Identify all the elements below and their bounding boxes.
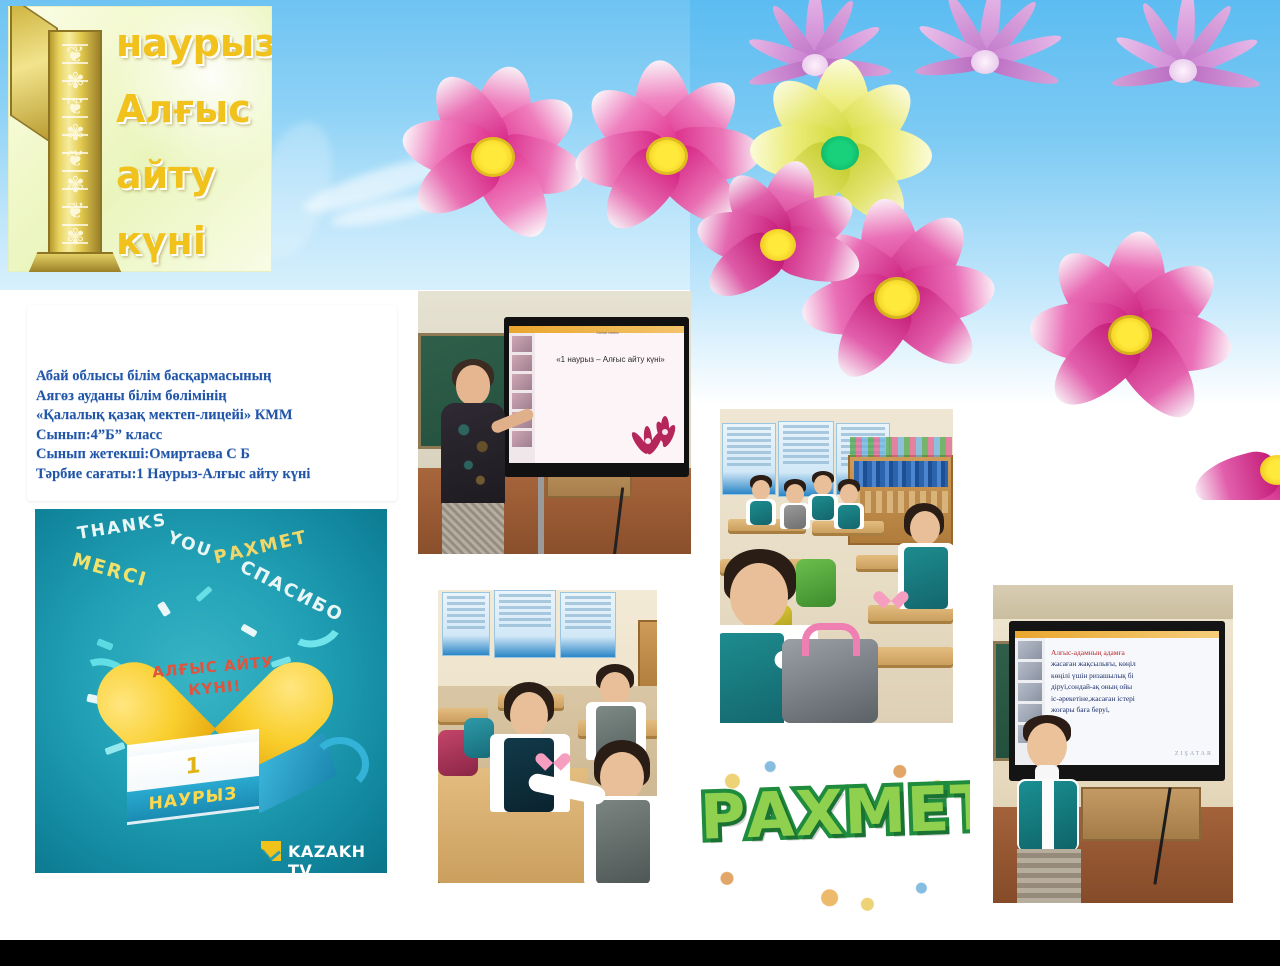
info-line-district: Аягөз ауданы білім бөлімінің [36,387,396,407]
paper-heart [880,584,902,604]
poster-word-thanks: THANKS [76,510,169,544]
kazakh-ornament-pattern: ❦✾❦✾❦✾❦✾ [60,42,90,254]
student-girl-figure [1005,723,1091,903]
teacher-skirt [442,503,504,554]
title-word-4: күні [116,208,272,272]
photo-students-desk [438,590,657,883]
info-line-school: «Қалалық қазақ мектеп-лицейі» КММ [36,406,396,426]
info-panel-text: Абай облысы білім басқармасының Аягөз ау… [36,367,396,484]
lily-illustration [618,413,680,461]
interactive-whiteboard: Сынып сағаты «1 наурыз – Алғыс айту күні… [504,317,689,477]
slide-title: «1 наурыз – Алғыс айту күні» [543,354,678,366]
info-line-class: Сынып:4”Б” класс [36,426,396,446]
slide-line-3: көңілі үшін ризашылық бі [1051,670,1215,681]
photo-teacher-presenting: Сынып сағаты «1 наурыз – Алғыс айту күні… [418,291,691,554]
numeral-one-ornament: ❦✾❦✾❦✾❦✾ [14,8,126,272]
student-back-4 [830,479,866,535]
rakhmet-graphic: РАХМЕТ [700,752,970,914]
title-card: ❦✾❦✾❦✾❦✾ наурыз Алғыс айту күні [8,6,272,272]
title-word-3: айту [116,142,272,208]
title-card-words: наурыз Алғыс айту күні [116,10,272,272]
girl-head [1027,723,1067,769]
slide-definition-text: Алғыс-адамның адамға жасаған жақсылығы, … [1051,647,1215,715]
blouse-pattern [450,413,496,497]
girl-plaid-skirt [1017,849,1081,903]
shelf-decorations [850,437,952,457]
backpack-strap [802,623,860,656]
rakhmet-text: РАХМЕТ [700,771,970,853]
slide-line-4: діруі,сондай-ақ оның ойы [1051,681,1215,692]
heart-line-2: КҮНІ! [188,677,242,700]
poster-word-you: YOU [165,528,215,563]
slide-line-6: жоғары баға беруі, [1051,704,1215,715]
kazakh-tv-label: KAZAKH TV [288,842,376,873]
slide-line-1: Алғыс-адамның адамға [1051,647,1215,658]
poster-word-rakhmet: РАХМЕТ [212,527,310,569]
flower-pink-4 [678,150,878,340]
paper-heart [542,746,564,766]
kazakh-tv-logo: KAZAKH TV [261,841,376,863]
slide-subtitle: Сынып сағаты [555,331,660,335]
cabinet [1081,787,1201,841]
photo-students-classroom [720,409,953,723]
teacher-head [456,365,490,405]
slide-page: ❦✾❦✾❦✾❦✾ наурыз Алғыс айту күні Абай обл… [0,0,1280,966]
flower-lilac-3 [1095,0,1270,153]
kazakh-tv-mark-icon [261,841,281,861]
teacher-figure [436,365,510,554]
info-line-region: Абай облысы білім басқармасының [36,367,396,387]
info-panel: Абай облысы білім басқармасының Аягөз ау… [27,305,397,501]
slide-line-2: жасаған жақсылығы, көңіл [1051,658,1215,669]
bottom-black-bar [0,940,1280,966]
girl-embroidered-vest [1019,781,1077,851]
student-back-1 [742,475,778,531]
title-word-1: наурыз [116,10,272,76]
slide-line-5: іс-әрекетіне,жасаған істері [1051,693,1215,704]
poster-word-merci: MERCI [69,549,150,592]
flower-pink-6 [1182,380,1280,500]
slide-signature: ZIŞATAR [1175,751,1213,757]
info-line-teacher: Сынып жетекші:Омиртаева С Б [36,445,396,465]
photo-girl-whiteboard: Алғыс-адамның адамға жасаған жақсылығы, … [993,585,1233,903]
student-foreground-back [584,740,657,883]
ceiling [993,585,1233,619]
thanks-poster: THANKS YOU MERCI РАХМЕТ СПАСИБО АЛҒЫС АЙ… [35,509,387,873]
info-line-topic: Тәрбие сағаты:1 Наурыз-Алғыс айту күні [36,465,396,485]
whiteboard-slide: Сынып сағаты «1 наурыз – Алғыс айту күні… [509,326,684,463]
title-word-2: Алғыс [116,76,272,142]
